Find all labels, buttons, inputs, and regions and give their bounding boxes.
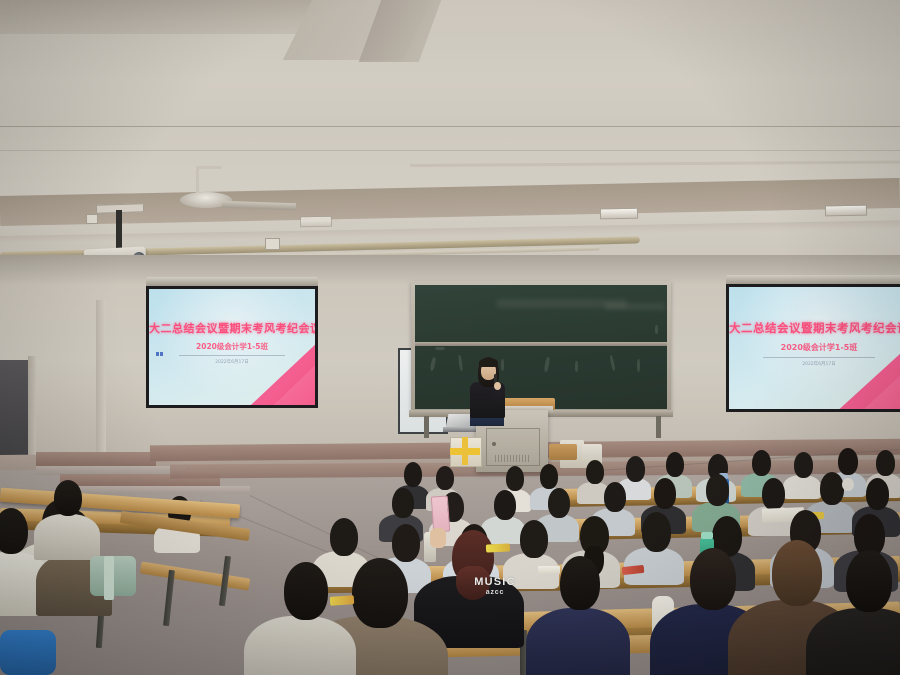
- person-head: [762, 478, 785, 510]
- lecture-hall-photo: 大二总结会议暨期末考风考纪会议 2020级会计学1-5班 2022年6月17日 …: [0, 0, 900, 675]
- presenter-hair-front: [479, 358, 498, 367]
- wall-seam-line: [0, 150, 900, 151]
- slide-right: 大二总结会议暨期末考风考纪会议 2020级会计学1-5班 2022年6月17日: [729, 287, 900, 409]
- chalk-mark: [655, 325, 658, 334]
- person-head: [494, 490, 516, 520]
- slide-title: 大二总结会议暨期末考风考纪会议: [149, 320, 315, 336]
- slide-date: 2022年6月17日: [149, 359, 315, 365]
- blackboard-support-leg: [424, 416, 429, 438]
- tshirt-subtext: azcc: [455, 589, 535, 596]
- person-shoulders: [783, 475, 821, 499]
- person-head: [352, 558, 408, 628]
- presenter-hand: [494, 382, 501, 390]
- blue-clothing: [0, 630, 56, 675]
- chalk-mark: [544, 357, 551, 372]
- person-head: [706, 474, 729, 506]
- person-head: [642, 512, 671, 552]
- left-projection-screen: 大二总结会议暨期末考风考纪会议 2020级会计学1-5班 2022年6月17日: [146, 286, 318, 408]
- blackboard-surface: [415, 285, 667, 409]
- wall-outlet[interactable]: [86, 214, 98, 224]
- person-head: [392, 488, 414, 518]
- person-head: [540, 464, 558, 489]
- podium-vents: [495, 455, 531, 462]
- person-head: [794, 452, 813, 478]
- chalk-mark: [430, 357, 437, 372]
- person-head: [690, 548, 736, 610]
- person-head: [520, 520, 548, 558]
- snack-wrapper: [330, 595, 355, 606]
- bottle-cap: [701, 532, 713, 539]
- chalk-smear: [605, 303, 665, 310]
- snack-wrapper: [486, 543, 510, 552]
- chalk-mark: [637, 359, 640, 372]
- person-head: [846, 550, 892, 612]
- chalk-mark: [501, 359, 504, 371]
- person-head: [548, 488, 570, 518]
- person-head: [436, 466, 454, 490]
- person-head: [0, 508, 28, 554]
- ceiling-light-fixture: [600, 208, 638, 220]
- podium-knob: [492, 442, 496, 446]
- chalk-mark: [575, 361, 578, 372]
- slide-badge-icon: [156, 352, 163, 356]
- person-head: [506, 466, 524, 491]
- person-head: [820, 472, 844, 505]
- person-head: [560, 556, 600, 610]
- person-head: [654, 478, 676, 509]
- blackboard-support-leg: [656, 416, 661, 438]
- person-head: [54, 480, 82, 516]
- person-head: [772, 540, 822, 606]
- right-projection-screen: 大二总结会议暨期末考风考纪会议 2020级会计学1-5班 2022年6月17日: [726, 284, 900, 412]
- brown-bag: [549, 444, 577, 460]
- smartphone[interactable]: [431, 495, 450, 532]
- projector-mount-arm: [116, 210, 122, 250]
- ceiling-light-fixture: [300, 216, 332, 228]
- person-head: [404, 462, 422, 487]
- person-head: [284, 562, 328, 620]
- person-shoulders: [34, 514, 100, 560]
- blackboard-frame: [411, 281, 671, 413]
- wall-seam-line: [0, 126, 900, 127]
- person-shoulders: [244, 616, 356, 675]
- person-head: [666, 452, 684, 477]
- person-head: [586, 460, 604, 484]
- screen-roller-bar: [726, 275, 900, 284]
- fan-cable: [196, 166, 222, 169]
- wall-outlet[interactable]: [265, 238, 280, 250]
- box-tape: [462, 437, 468, 465]
- raised-hand: [430, 528, 446, 548]
- backpack-strap: [104, 556, 114, 600]
- person-head: [752, 450, 771, 476]
- slide-divider: [179, 355, 285, 356]
- chalk-mark: [435, 347, 445, 350]
- tshirt-text: MUSIC: [455, 576, 535, 588]
- ceiling-shadow: [0, 0, 330, 34]
- person-head: [330, 518, 358, 556]
- screen-roller-bar: [146, 277, 318, 286]
- person-head: [626, 456, 645, 482]
- step-riser: [36, 452, 156, 466]
- person-head: [876, 450, 895, 476]
- person-head: [604, 482, 626, 512]
- person-head: [392, 524, 420, 562]
- slide-divider: [763, 357, 875, 358]
- person-shoulders: [526, 608, 630, 675]
- slide-title: 大二总结会议暨期末考风考纪会议: [729, 320, 900, 336]
- chalk-mark: [458, 355, 463, 371]
- ceiling-light-fixture: [825, 205, 867, 217]
- slide-subtitle: 2020级会计学1-5班: [729, 342, 900, 353]
- person-head: [866, 478, 889, 510]
- cap: [842, 478, 854, 491]
- blackboard-divider: [415, 342, 667, 346]
- paper: [538, 566, 560, 574]
- chalk-mark: [609, 355, 615, 371]
- person-head: [838, 448, 858, 475]
- slide-date: 2022年6月17日: [729, 361, 900, 367]
- slide-left: 大二总结会议暨期末考风考纪会议 2020级会计学1-5班 2022年6月17日: [149, 289, 315, 405]
- slide-subtitle: 2020级会计学1-5班: [149, 341, 315, 352]
